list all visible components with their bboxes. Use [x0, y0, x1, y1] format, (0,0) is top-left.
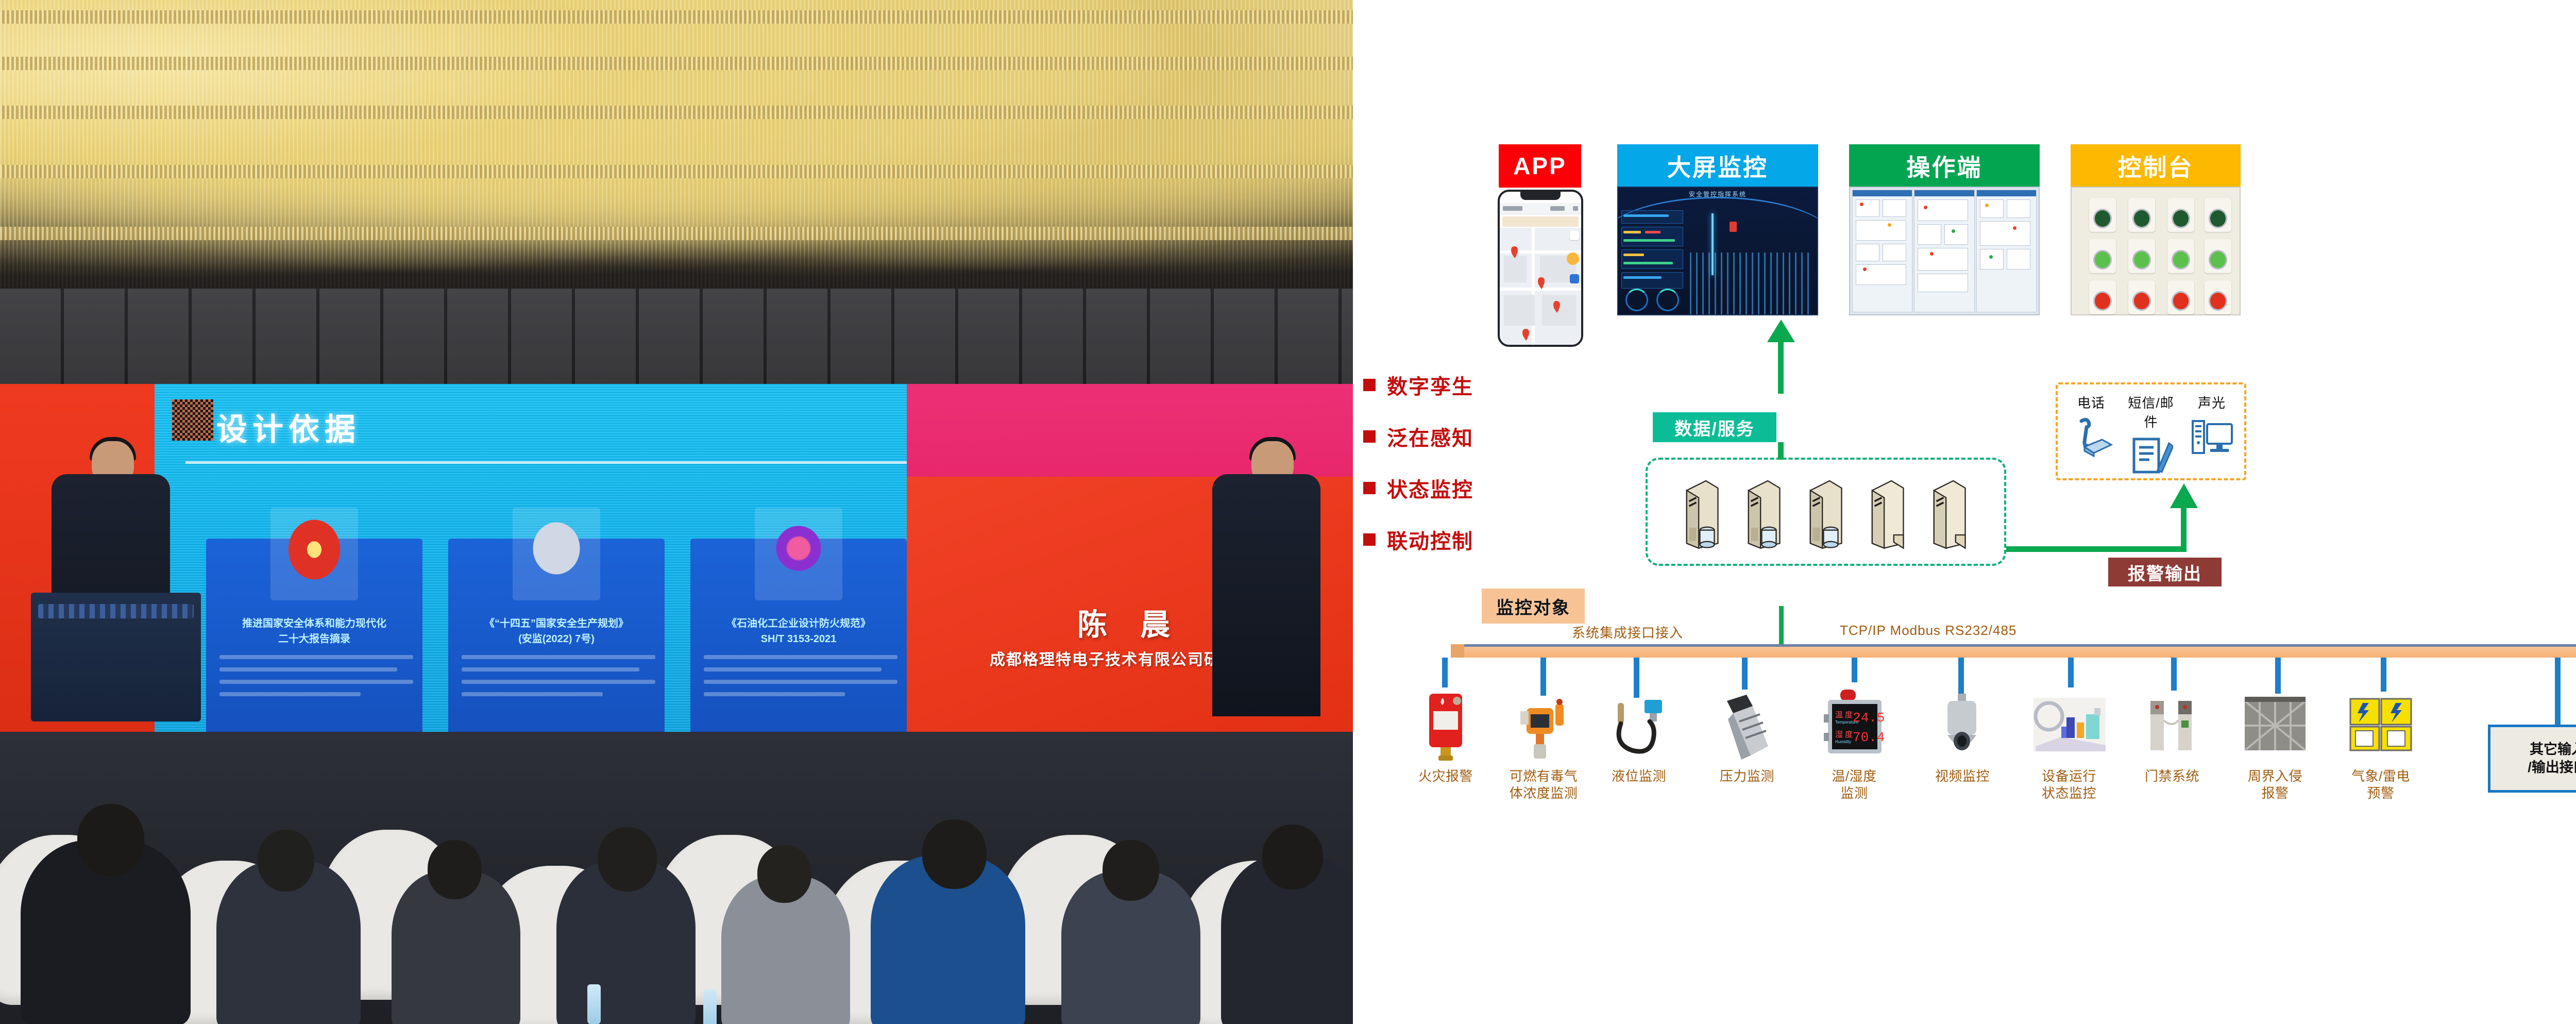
- bullet-label: 状态监控: [1387, 473, 1473, 503]
- map-pin[interactable]: [1511, 246, 1518, 256]
- card-heading: 推进国家安全体系和能力现代化 二十大报告摘录: [213, 616, 415, 647]
- cctv-camera-icon: [1919, 685, 2006, 763]
- feature-bullet-digital-twin: 数字孪生: [1363, 370, 1473, 400]
- sensor-stem: [1442, 658, 1448, 687]
- level-sensor-icon: [1595, 685, 1683, 763]
- sensor-pressure[interactable]: 压力监测: [1703, 685, 1791, 785]
- system-architecture-diagram: APP 大屏监控 操作端 控制台: [1353, 0, 2576, 1024]
- operator-panel: [1980, 199, 2004, 218]
- console-lamp-green: [2209, 250, 2227, 270]
- alarm-channel-sound-light-label: 声光: [2183, 393, 2240, 412]
- feature-bullet-status-monitoring: 状态监控: [1363, 473, 1473, 503]
- card-text-line: [704, 655, 897, 659]
- gas-detector-icon: [1500, 685, 1587, 763]
- tag-alarm-output: 报警输出: [2108, 558, 2222, 586]
- big-screen-metric-bar: [1623, 276, 1662, 279]
- big-screen-panel: [1621, 210, 1683, 224]
- alarm-channel-sms-mail-label: 短信/邮件: [2123, 393, 2179, 431]
- console-button[interactable]: [2205, 198, 2231, 232]
- connector-alarm-vertical: [2181, 508, 2187, 551]
- console-lamp-green: [2093, 250, 2112, 270]
- console-lamp-red: [2172, 291, 2190, 311]
- access-gate-icon: [2128, 685, 2216, 763]
- tag-data-service-label: 数据/服务: [1674, 415, 1754, 440]
- sensor-fire-alarm[interactable]: 火灾报警: [1402, 685, 1489, 785]
- big-screen-3d-plant: [1690, 253, 1809, 314]
- control-console-mockup[interactable]: [2071, 187, 2241, 315]
- bus-divider-tick: [1779, 606, 1784, 644]
- operator-alarm-dot[interactable]: [1888, 223, 1891, 227]
- big-screen-panel: [1621, 227, 1683, 246]
- big-screen-metric-bar: [1623, 254, 1644, 256]
- operator-screen[interactable]: [1914, 190, 1974, 312]
- header-app-label: APP: [1513, 152, 1567, 180]
- console-button[interactable]: [2167, 198, 2194, 232]
- operator-screen-titlebar: [1853, 190, 1912, 196]
- bullet-label: 泛在感知: [1387, 422, 1473, 451]
- weather-lightning-icon: [2337, 685, 2425, 763]
- card-text-line: [219, 692, 361, 696]
- sensor-equipment-status[interactable]: 设备运行 状态监控: [2025, 685, 2113, 801]
- connector-bigscreen-stem: [1778, 340, 1784, 394]
- console-lamp-green: [2172, 250, 2190, 270]
- console-lamp-dark-green: [2209, 209, 2227, 228]
- ceiling-strip: [0, 106, 1353, 119]
- alarm-channel-sms-mail: 短信/邮件: [2123, 393, 2179, 480]
- connector-bigscreen-arrowhead: [1765, 320, 1797, 344]
- field-bus-left-cap: [1451, 644, 1464, 658]
- screenshot-root: 设计依据 格理特 Greatech 推进国家安全体系和能力现代化 二十大报告摘录: [0, 0, 2576, 1024]
- ministry-emergency-emblem-icon: [528, 517, 585, 580]
- operator-panel: [1944, 224, 1968, 245]
- sensor-temp-humidity[interactable]: 温 度 Temperature 24.5 湿 度 Humidity 70.4 温…: [1810, 685, 1898, 801]
- bullet-label: 数字孪生: [1387, 370, 1473, 400]
- card-text-line: [219, 667, 397, 672]
- bullet-square-icon: [1363, 430, 1376, 443]
- operator-panel: [2007, 199, 2030, 218]
- equipment-status-icon: [2025, 685, 2113, 763]
- water-bottle: [703, 989, 717, 1024]
- server-icon: [1803, 477, 1848, 549]
- bullet-label: 联动控制: [1387, 525, 1473, 555]
- connector-alarm-arrowhead: [2168, 483, 2199, 510]
- sensor-stem: [1742, 658, 1748, 690]
- ceiling-strip: [0, 57, 1353, 70]
- console-button[interactable]: [2167, 280, 2194, 314]
- sensor-stem: [1852, 658, 1857, 682]
- connector-alarm-horizontal: [2006, 546, 2187, 552]
- sensor-stem: [2068, 658, 2074, 687]
- attendee-head: [1103, 840, 1159, 901]
- console-button[interactable]: [2205, 280, 2231, 314]
- console-button[interactable]: [2089, 280, 2116, 314]
- header-console-label: 控制台: [2118, 149, 2194, 183]
- operator-screen-titlebar: [1977, 190, 2036, 196]
- slide-card: 《“十四五”国家安全生产规划》 (安监(2022) 7号): [448, 539, 665, 745]
- tag-alarm-output-label: 报警输出: [2128, 560, 2202, 585]
- phone-notice-banner: [1502, 216, 1579, 227]
- feature-bullet-linkage-control: 联动控制: [1363, 525, 1473, 555]
- console-lamp-red: [2093, 291, 2112, 311]
- svg-text:Humidity: Humidity: [1835, 740, 1851, 744]
- console-button[interactable]: [2128, 280, 2155, 314]
- card-text-line: [219, 655, 413, 659]
- ceiling-strip: [0, 165, 1353, 178]
- phone-action-text: [1550, 206, 1565, 211]
- server-icon: [1865, 477, 1909, 549]
- ceiling-lights: [0, 0, 1353, 309]
- operator-panel: [1856, 220, 1906, 241]
- operator-alarm-dot[interactable]: [1863, 267, 1867, 271]
- header-app[interactable]: APP: [1499, 144, 1581, 188]
- operator-panel: [1883, 244, 1906, 261]
- sensor-level[interactable]: 液位监测: [1595, 685, 1683, 785]
- alarm-channel-box: 电话 短信/邮件 声光: [2056, 382, 2246, 480]
- alarm-channel-phone-label: 电话: [2063, 393, 2120, 412]
- sensor-level-label: 液位监测: [1595, 768, 1683, 785]
- server-icon: [1741, 477, 1786, 549]
- bullet-square-icon: [1363, 533, 1376, 546]
- operator-station-mockup[interactable]: [1849, 187, 2040, 315]
- sensor-fire-alarm-label: 火灾报警: [1402, 768, 1489, 785]
- map-locate-icon[interactable]: [1567, 253, 1579, 265]
- label-protocols: TCP/IP Modbus RS232/485: [1840, 623, 2016, 639]
- conference-photo: 设计依据 格理特 Greatech 推进国家安全体系和能力现代化 二十大报告摘录: [0, 0, 1353, 1024]
- server-icon: [1680, 477, 1724, 549]
- map-pin[interactable]: [1522, 329, 1529, 338]
- attendee-head: [77, 804, 144, 876]
- header-operator[interactable]: 操作端: [1849, 144, 2040, 188]
- operator-alarm-dot[interactable]: [1985, 204, 1989, 207]
- attendee-head: [757, 845, 811, 903]
- console-button[interactable]: [2089, 198, 2116, 232]
- china-national-emblem-icon: [286, 517, 343, 580]
- audience-area: [0, 732, 1353, 1024]
- perimeter-fence-icon: [2231, 685, 2319, 763]
- sound-light-icon: [2190, 415, 2234, 458]
- header-operator-label: 操作端: [1907, 149, 1982, 183]
- card-text-line: [462, 680, 655, 684]
- svg-text:24.5: 24.5: [1853, 710, 1885, 726]
- operator-panel: [1856, 244, 1879, 261]
- sensor-weather-lightning-label: 气象/雷电 预警: [2337, 768, 2425, 801]
- podium: [31, 593, 201, 721]
- ceiling-strip: [0, 227, 1353, 240]
- connector-data-tag: [1778, 442, 1784, 460]
- feature-bullet-ubiquitous-sensing: 泛在感知: [1363, 422, 1473, 451]
- sensor-perimeter-label: 周界入侵 报警: [2231, 768, 2319, 801]
- map-block: [1542, 295, 1576, 326]
- big-screen-mockup[interactable]: 安全管控指挥系统: [1617, 187, 1818, 315]
- svg-text:温 度: 温 度: [1835, 711, 1853, 719]
- phone-status-bar: [1500, 203, 1581, 214]
- sensor-pressure-label: 压力监测: [1703, 768, 1791, 785]
- alarm-channel-phone: 电话: [2063, 393, 2120, 461]
- attendee-head: [428, 840, 482, 899]
- big-screen-metric-bar: [1623, 231, 1641, 233]
- other-io-label: 其它输入 /输出接口: [2528, 741, 2576, 777]
- field-bus: [1464, 644, 2576, 658]
- fire-alarm-icon: [1402, 685, 1489, 763]
- big-screen-panel: [1621, 249, 1683, 269]
- speaker-body: [1212, 474, 1320, 716]
- big-screen-metric-bar: [1623, 239, 1675, 242]
- speaker-left: [31, 397, 201, 716]
- big-screen-gauge: [1625, 289, 1648, 311]
- operator-screen-titlebar: [1914, 190, 1974, 196]
- console-button[interactable]: [2128, 198, 2155, 232]
- sensor-gas-detector[interactable]: 可燃有毒气 体浓度监测: [1500, 685, 1587, 801]
- speaker-right: [1198, 397, 1352, 706]
- sensor-temp-humidity-label: 温/湿度 监测: [1810, 768, 1898, 801]
- card-text-line: [462, 692, 603, 696]
- console-lamp-green: [2132, 250, 2151, 270]
- big-screen-metric-bar: [1645, 231, 1660, 233]
- tag-monitor-object: 监控对象: [1482, 589, 1585, 624]
- operator-alarm-dot[interactable]: [2013, 226, 2016, 230]
- console-button[interactable]: [2128, 239, 2155, 273]
- operator-panel: [1918, 248, 1968, 271]
- map-block: [1504, 256, 1527, 282]
- operator-alarm-dot[interactable]: [1860, 203, 1863, 206]
- header-console[interactable]: 控制台: [2071, 144, 2241, 188]
- sensor-equipment-status-label: 设备运行 状态监控: [2025, 768, 2113, 801]
- big-screen-metric-bar: [1623, 214, 1669, 217]
- big-screen-gauge: [1656, 289, 1679, 311]
- console-button[interactable]: [2205, 239, 2231, 273]
- label-system-integration: 系统集成接口接入: [1572, 623, 1683, 642]
- tag-monitor-object-label: 监控对象: [1496, 594, 1570, 619]
- phone-map: [1500, 228, 1581, 345]
- console-lamp-red: [2209, 291, 2227, 311]
- operator-screen[interactable]: [1976, 190, 2037, 312]
- sensor-perimeter[interactable]: 周界入侵 报警: [2231, 685, 2319, 801]
- operator-panel: [1856, 199, 1879, 217]
- attendee-head: [1262, 825, 1323, 889]
- slide-title: 设计依据: [216, 405, 361, 449]
- big-screen-metric-bar: [1623, 262, 1673, 264]
- app-phone-mockup[interactable]: [1498, 190, 1583, 347]
- operator-panel: [2007, 249, 2030, 270]
- card-text-line: [219, 680, 413, 684]
- alarm-channel-sound-light: 声光: [2183, 393, 2240, 461]
- card-text-line: [462, 655, 655, 659]
- ceiling-strip: [0, 10, 1353, 24]
- attendee-head: [922, 819, 987, 889]
- bullet-square-icon: [1363, 482, 1376, 494]
- operator-panel: [1918, 274, 1968, 292]
- attendee-head: [598, 827, 657, 892]
- console-lamp-dark-green: [2172, 209, 2190, 228]
- operator-panel: [1918, 224, 1941, 245]
- card-text-line: [462, 667, 639, 672]
- operator-screen[interactable]: [1852, 190, 1912, 312]
- big-screen-alarm-marker[interactable]: [1730, 222, 1737, 232]
- svg-text:70.4: 70.4: [1853, 730, 1885, 745]
- console-lamp-red: [2132, 291, 2151, 311]
- operator-panel: [1883, 199, 1906, 217]
- console-button[interactable]: [2167, 239, 2194, 273]
- map-marker-tool-icon[interactable]: [1570, 274, 1579, 283]
- telephone-icon: [2069, 415, 2113, 458]
- pressure-sensor-icon: [1703, 685, 1791, 763]
- sensor-cctv-label: 视频监控: [1919, 768, 2006, 785]
- slide-card: 《石油化工企业设计防火规范》 SH/T 3153-2021: [690, 539, 907, 745]
- temp-humidity-icon: 温 度 Temperature 24.5 湿 度 Humidity 70.4: [1810, 685, 1898, 763]
- map-block: [1504, 295, 1535, 326]
- wall-panel: [0, 289, 1353, 397]
- slide-card: 推进国家安全体系和能力现代化 二十大报告摘录: [206, 539, 422, 745]
- operator-panel: [1980, 221, 2030, 246]
- petrochemical-emblem-icon: [770, 517, 827, 580]
- operator-panel: [1918, 199, 1968, 221]
- bullet-square-icon: [1363, 379, 1376, 391]
- tag-data-service: 数据/服务: [1653, 412, 1776, 442]
- card-text-line: [704, 680, 897, 684]
- card-heading: 《“十四五”国家安全生产规划》 (安监(2022) 7号): [455, 616, 657, 647]
- console-lamp-dark-green: [2132, 209, 2151, 228]
- sensor-gas-detector-label: 可燃有毒气 体浓度监测: [1500, 768, 1587, 801]
- water-bottle: [587, 984, 601, 1024]
- sensor-access-gate[interactable]: 门禁系统: [2128, 685, 2216, 785]
- header-big-screen-label: 大屏监控: [1667, 149, 1768, 183]
- svg-text:湿 度: 湿 度: [1835, 730, 1853, 739]
- operator-alarm-dot[interactable]: [1989, 255, 1993, 259]
- sms-mail-icon: [2129, 434, 2173, 477]
- big-screen-panel: [1621, 272, 1683, 289]
- operator-panel: [1980, 249, 2004, 270]
- phone-menu-icon: [1573, 206, 1578, 211]
- card-text-line: [704, 692, 845, 696]
- phone-notch: [1520, 192, 1561, 200]
- console-button[interactable]: [2089, 239, 2116, 273]
- card-text-line: [704, 667, 882, 672]
- header-big-screen[interactable]: 大屏监控: [1617, 144, 1818, 188]
- map-pin[interactable]: [1538, 277, 1545, 287]
- other-io-stem: [2555, 658, 2561, 725]
- card-heading: 《石油化工企业设计防火规范》 SH/T 3153-2021: [698, 616, 900, 647]
- phone-title-text: [1503, 206, 1522, 211]
- map-layers-icon[interactable]: [1570, 231, 1579, 240]
- console-lamp-dark-green: [2093, 209, 2112, 228]
- server-icon: [1927, 477, 1971, 549]
- attendee-head: [258, 830, 314, 892]
- sensor-cctv[interactable]: 视频监控: [1919, 685, 2006, 785]
- sensor-weather-lightning[interactable]: 气象/雷电 预警: [2337, 685, 2425, 801]
- other-io-box[interactable]: 其它输入 /输出接口: [2488, 725, 2576, 793]
- server-cluster-box: [1646, 458, 2006, 566]
- sensor-access-gate-label: 门禁系统: [2128, 768, 2216, 785]
- map-road: [1532, 228, 1535, 345]
